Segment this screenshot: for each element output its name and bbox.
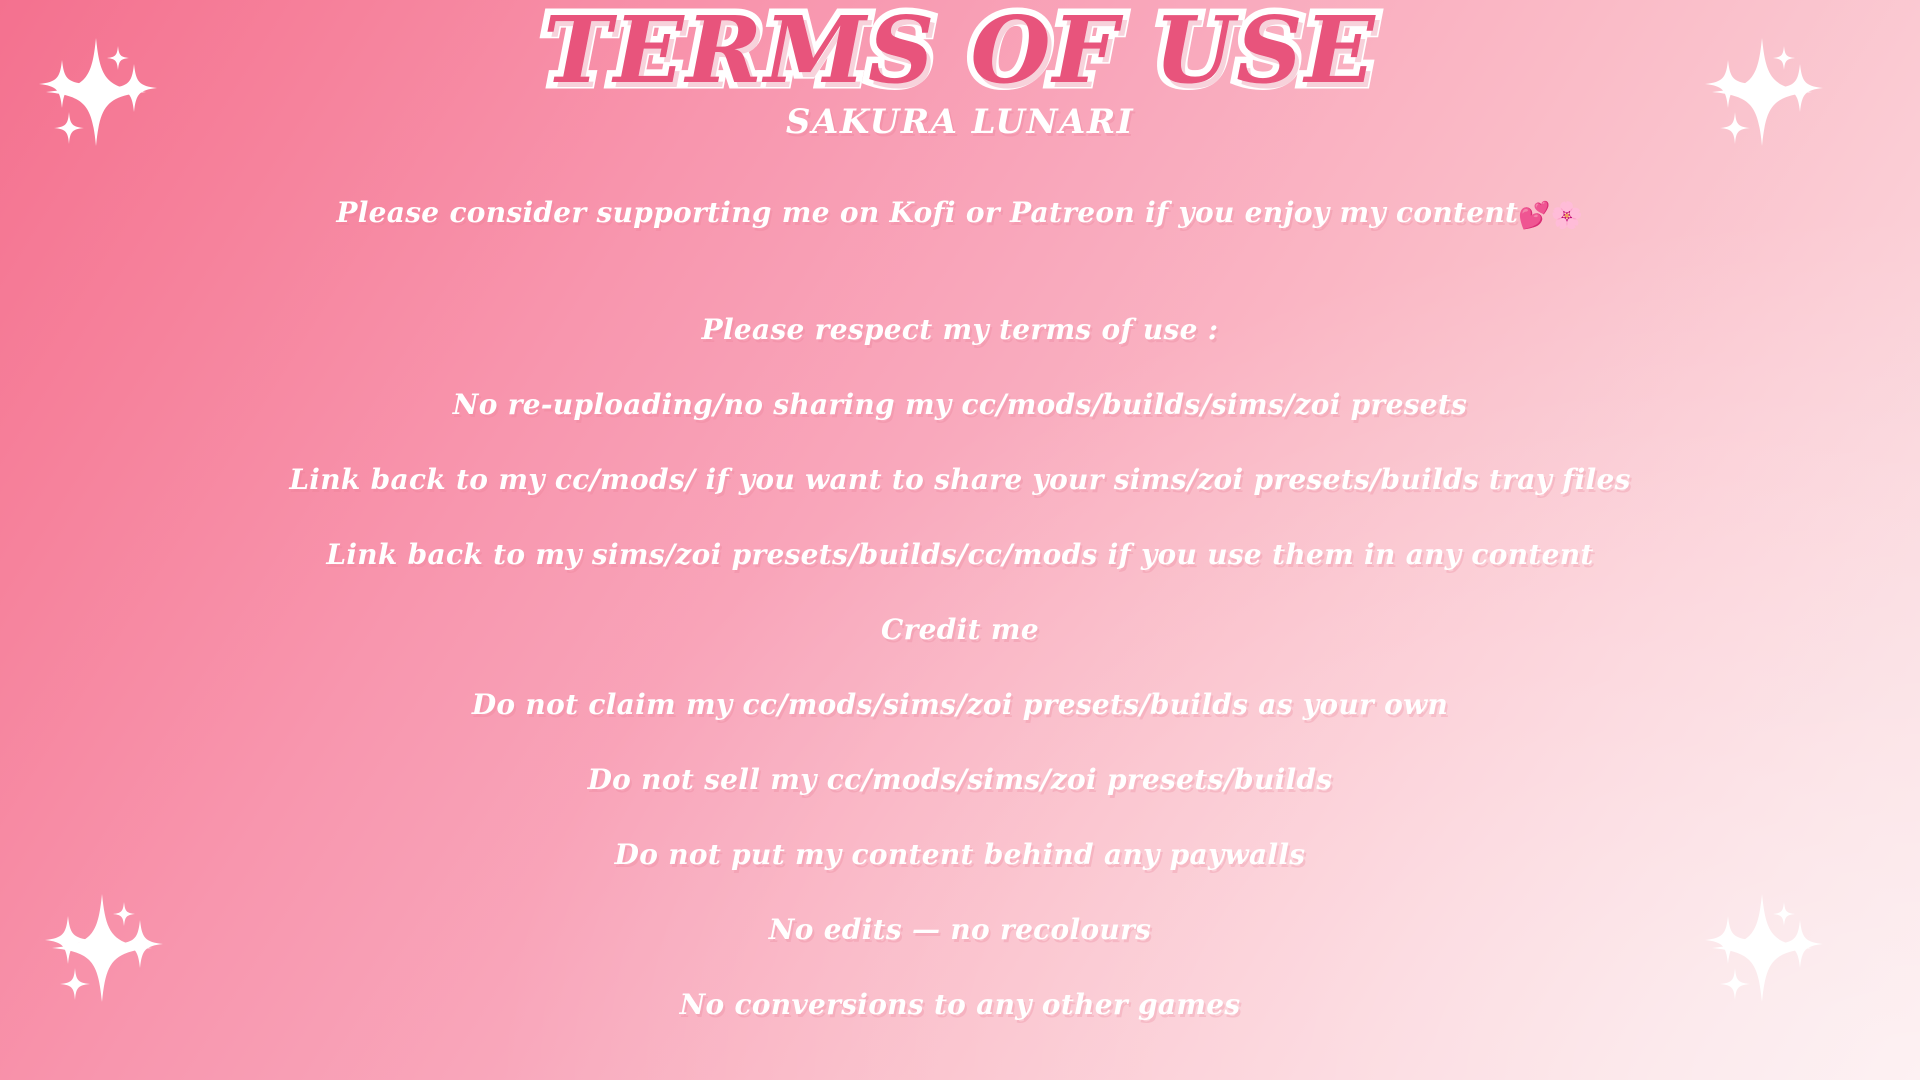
page-title: TERMS OF USE (0, 0, 1920, 100)
terms-list-item: Do not sell my cc/mods/sims/zoi presets/… (0, 766, 1920, 841)
page-subtitle: SAKURA LUNARI (0, 100, 1920, 142)
terms-list-item: Credit me (0, 616, 1920, 691)
two-hearts-icon: 💕 (1518, 201, 1551, 231)
terms-list: Please respect my terms of use : No re-u… (0, 316, 1920, 1066)
terms-list-item: Do not put my content behind any paywall… (0, 841, 1920, 916)
headline-block: TERMS OF USE SAKURA LUNARI (0, 0, 1920, 142)
terms-intro: Please respect my terms of use : (0, 316, 1920, 391)
support-message: Please consider supporting me on Kofi or… (0, 196, 1920, 231)
terms-of-use-poster: TERMS OF USE SAKURA LUNARI Please consid… (0, 0, 1920, 1080)
terms-list-item: Link back to my sims/zoi presets/builds/… (0, 541, 1920, 616)
terms-list-item: Do not claim my cc/mods/sims/zoi presets… (0, 691, 1920, 766)
terms-list-item: Link back to my cc/mods/ if you want to … (0, 466, 1920, 541)
terms-list-item: No re-uploading/no sharing my cc/mods/bu… (0, 391, 1920, 466)
support-message-text: Please consider supporting me on Kofi or… (336, 196, 1518, 229)
cherry-blossom-icon: 🌸 (1551, 201, 1584, 231)
terms-list-item: No edits — no recolours (0, 916, 1920, 991)
terms-list-item: No conversions to any other games (0, 991, 1920, 1066)
